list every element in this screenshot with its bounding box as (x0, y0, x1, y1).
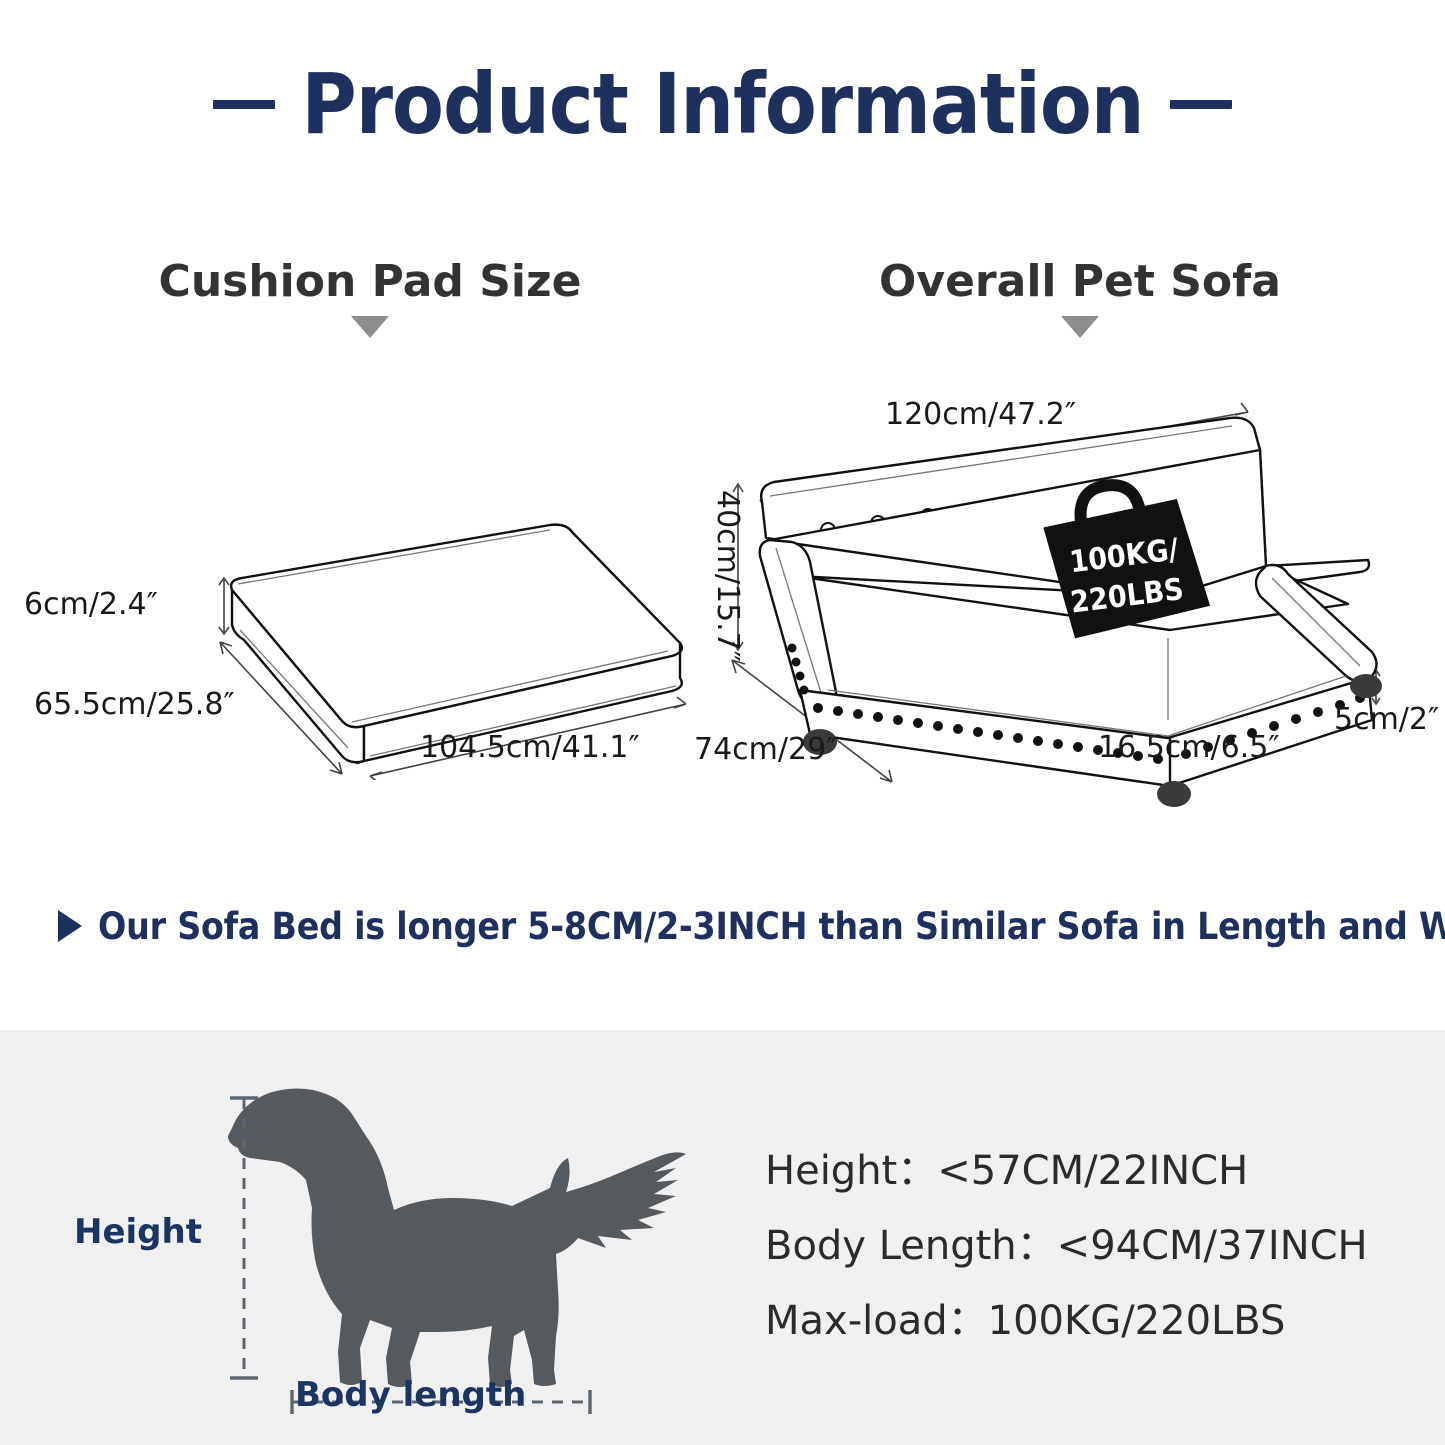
spec-row-body-length: Body Length：<94CM/37INCH (765, 1225, 1405, 1267)
dog-spec-list: Height：<57CM/22INCH Body Length：<94CM/37… (765, 1150, 1405, 1375)
triangle-right-icon (58, 910, 82, 942)
cushion-length-label: 104.5cm/41.1″ (420, 733, 640, 763)
chevron-down-icon (1061, 316, 1099, 338)
spec-row-max-load: Max-load：100KG/220LBS (765, 1300, 1405, 1342)
sofa-depth-label: 74cm/29″ (694, 735, 837, 765)
sofa-foot-height-label: 5cm/2″ (1334, 705, 1439, 735)
sofa-seat-front-height-label: 16.5cm/6.5″ (1098, 733, 1280, 763)
sofa-heading-label: Overall Pet Sofa (790, 258, 1370, 306)
spec-label-max-load: Max-load： (765, 1298, 988, 1344)
spec-row-height: Height：<57CM/22INCH (765, 1150, 1405, 1192)
spec-label-height: Height： (765, 1148, 937, 1194)
dog-height-label: Height (74, 1215, 202, 1249)
title-dash-left (213, 100, 275, 109)
chevron-down-icon (351, 316, 389, 338)
page-title: Product Information (0, 62, 1445, 146)
spec-value-body-length: <94CM/37INCH (1057, 1223, 1368, 1269)
sofa-width-label: 120cm/47.2″ (885, 400, 1076, 430)
sofa-height-label: 40cm/15.7″ (712, 490, 742, 662)
cushion-heading-label: Cushion Pad Size (80, 258, 660, 306)
title-text: Product Information (301, 62, 1143, 146)
title-dash-right (1170, 100, 1232, 109)
spec-value-max-load: 100KG/220LBS (988, 1298, 1286, 1344)
section-heading-cushion: Cushion Pad Size (80, 258, 660, 338)
section-heading-sofa: Overall Pet Sofa (790, 258, 1370, 338)
dog-silhouette (228, 1088, 686, 1387)
product-information-infographic: Product Information Cushion Pad Size Ove… (0, 0, 1445, 1445)
highlight-statement: Our Sofa Bed is longer 5-8CM/2-3INCH tha… (58, 898, 1398, 954)
highlight-text: Our Sofa Bed is longer 5-8CM/2-3INCH tha… (98, 905, 1445, 948)
cushion-depth-label: 65.5cm/25.8″ (34, 690, 235, 720)
dog-body-length-label: Body length (295, 1378, 526, 1412)
max-load-weight-badge: 100KG/ 220LBS (1008, 466, 1238, 656)
spec-label-body-length: Body Length： (765, 1223, 1057, 1269)
spec-value-height: <57CM/22INCH (937, 1148, 1248, 1194)
cushion-thickness-label: 6cm/2.4″ (24, 590, 158, 620)
